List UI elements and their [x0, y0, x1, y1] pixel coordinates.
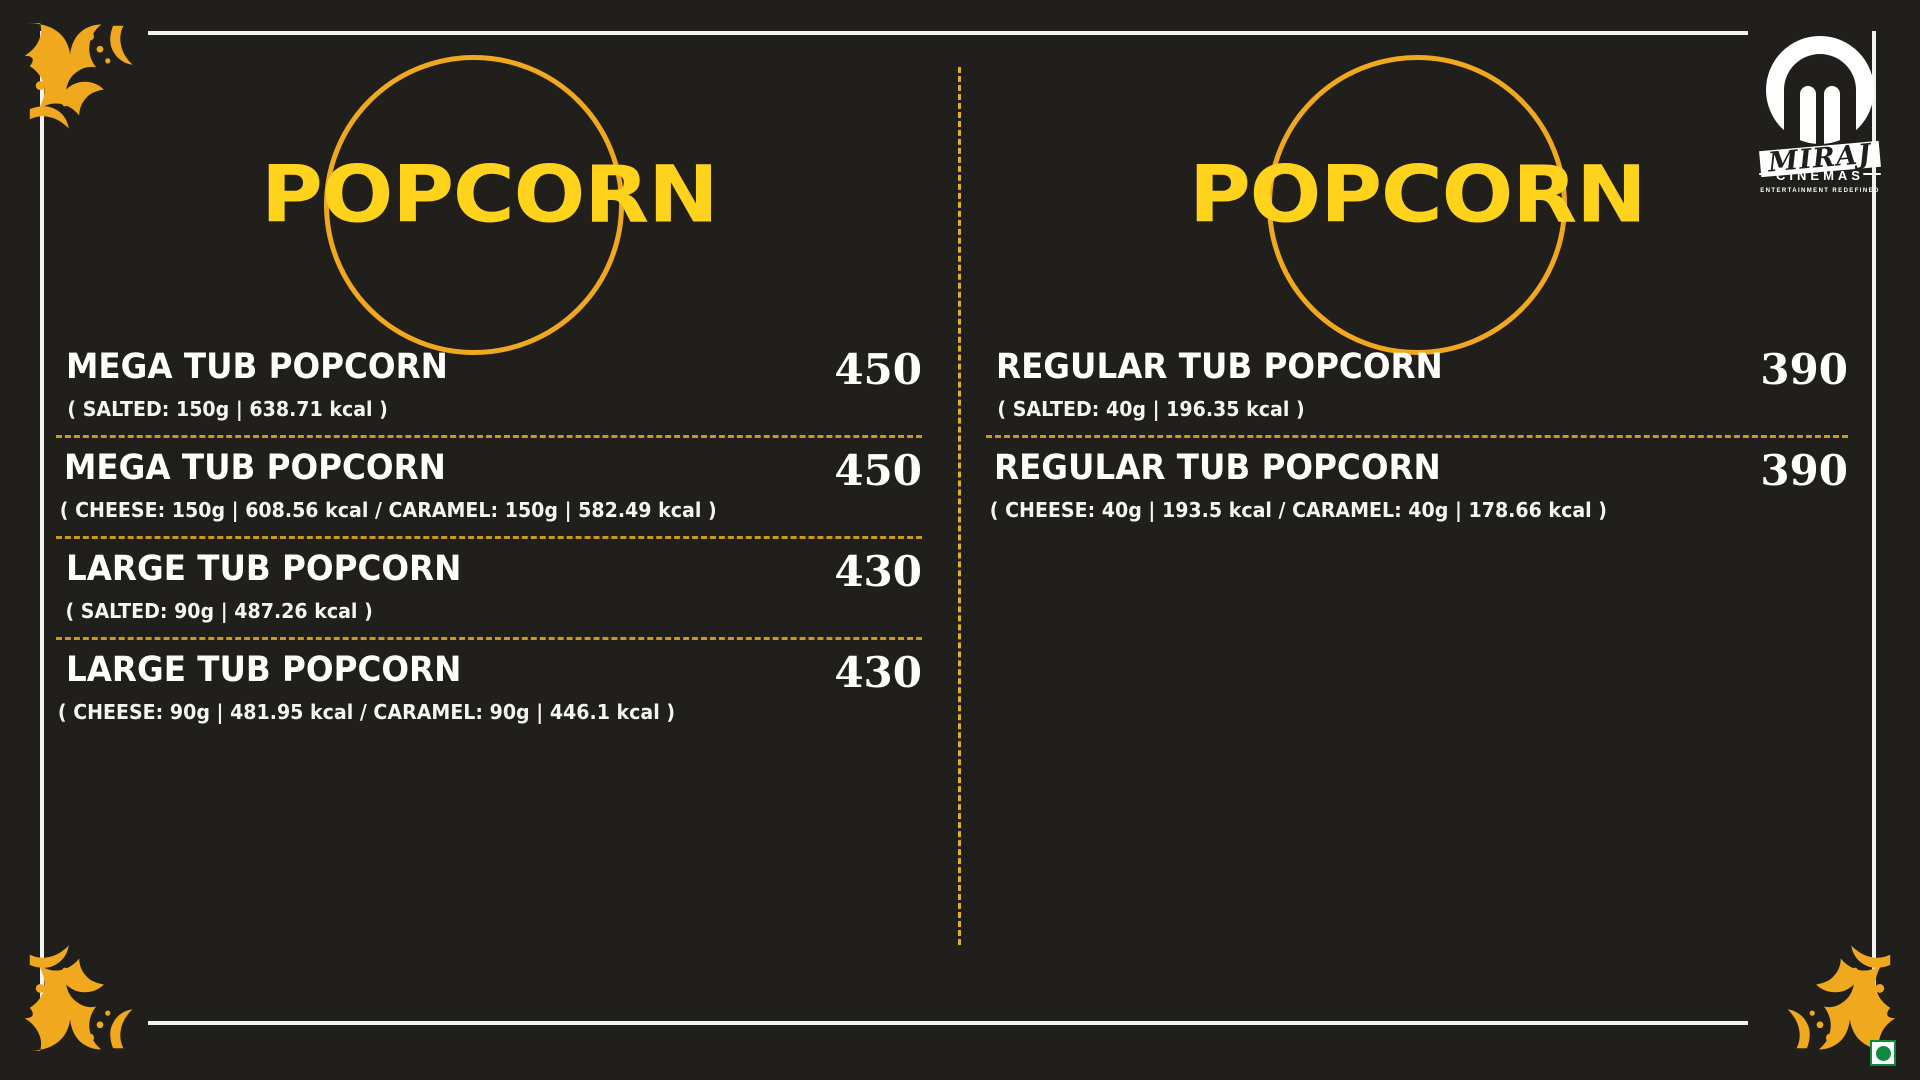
menu-item[interactable]: MEGA TUB POPCORN 450 ( CHEESE: 150g | 60… [56, 450, 922, 522]
logo-sub-name: CINEMAS [1776, 168, 1864, 183]
menu-item-name: REGULAR TUB POPCORN [994, 450, 1441, 487]
menu-item[interactable]: LARGE TUB POPCORN 430 ( SALTED: 90g | 48… [56, 551, 922, 623]
menu-list-right: REGULAR TUB POPCORN 390 ( SALTED: 40g | … [986, 349, 1848, 522]
menu-item-price: 390 [1760, 349, 1848, 391]
menu-item-name: MEGA TUB POPCORN [64, 450, 446, 487]
menu-item-row: REGULAR TUB POPCORN 390 [986, 450, 1848, 492]
menu-list-left: MEGA TUB POPCORN 450 ( SALTED: 150g | 63… [56, 349, 922, 724]
category-title-popcorn: POPCORN [261, 149, 718, 240]
menu-item-price: 450 [834, 450, 922, 492]
menu-item[interactable]: REGULAR TUB POPCORN 390 ( CHEESE: 40g | … [986, 450, 1848, 522]
item-divider [56, 536, 922, 539]
menu-item-description: ( CHEESE: 90g | 481.95 kcal / CARAMEL: 9… [56, 700, 879, 724]
item-divider [56, 435, 922, 438]
menu-item-name: REGULAR TUB POPCORN [996, 349, 1443, 386]
logo-tagline: ENTERTAINMENT REDEFINED [1760, 188, 1879, 194]
menu-item-name: LARGE TUB POPCORN [66, 551, 461, 588]
category-header-left: POPCORN [56, 31, 922, 331]
menu-item-row: REGULAR TUB POPCORN 390 [986, 349, 1848, 391]
item-divider [986, 435, 1848, 438]
menu-item-description: ( CHEESE: 150g | 608.56 kcal / CARAMEL: … [56, 498, 879, 522]
menu-item-description: ( CHEESE: 40g | 193.5 kcal / CARAMEL: 40… [986, 498, 1805, 522]
menu-item-row: MEGA TUB POPCORN 450 [56, 450, 922, 492]
category-title-popcorn: POPCORN [1189, 149, 1646, 240]
menu-item-name: MEGA TUB POPCORN [66, 349, 448, 386]
menu-item[interactable]: MEGA TUB POPCORN 450 ( SALTED: 150g | 63… [56, 349, 922, 421]
menu-item-description: ( SALTED: 150g | 638.71 kcal ) [56, 397, 879, 421]
menu-item-price: 430 [834, 551, 922, 593]
menu-item-row: LARGE TUB POPCORN 430 [56, 652, 922, 694]
miraj-cinemas-logo: MIRAJ CINEMAS ENTERTAINMENT REDEFINED [1754, 28, 1886, 198]
category-header-right: POPCORN [986, 31, 1848, 331]
vegetarian-dot [1876, 1046, 1891, 1061]
menu-item[interactable]: LARGE TUB POPCORN 430 ( CHEESE: 90g | 48… [56, 652, 922, 724]
menu-item-row: MEGA TUB POPCORN 450 [56, 349, 922, 391]
menu-item-name: LARGE TUB POPCORN [66, 652, 461, 689]
menu-item-description: ( SALTED: 90g | 487.26 kcal ) [56, 599, 879, 623]
vegetarian-mark-icon [1870, 1040, 1896, 1066]
menu-item-row: LARGE TUB POPCORN 430 [56, 551, 922, 593]
menu-column-left: POPCORN MEGA TUB POPCORN 450 ( SALTED: 1… [44, 31, 958, 1025]
menu-board: MIRAJ CINEMAS ENTERTAINMENT REDEFINED PO… [0, 0, 1920, 1080]
menu-item-price: 450 [834, 349, 922, 391]
item-divider [56, 637, 922, 640]
menu-item-price: 430 [834, 652, 922, 694]
menu-columns: POPCORN MEGA TUB POPCORN 450 ( SALTED: 1… [44, 31, 1872, 1025]
menu-item-description: ( SALTED: 40g | 196.35 kcal ) [986, 397, 1805, 421]
menu-item-price: 390 [1760, 450, 1848, 492]
menu-item[interactable]: REGULAR TUB POPCORN 390 ( SALTED: 40g | … [986, 349, 1848, 421]
menu-column-right: POPCORN REGULAR TUB POPCORN 390 ( SALTED… [958, 31, 1872, 1025]
